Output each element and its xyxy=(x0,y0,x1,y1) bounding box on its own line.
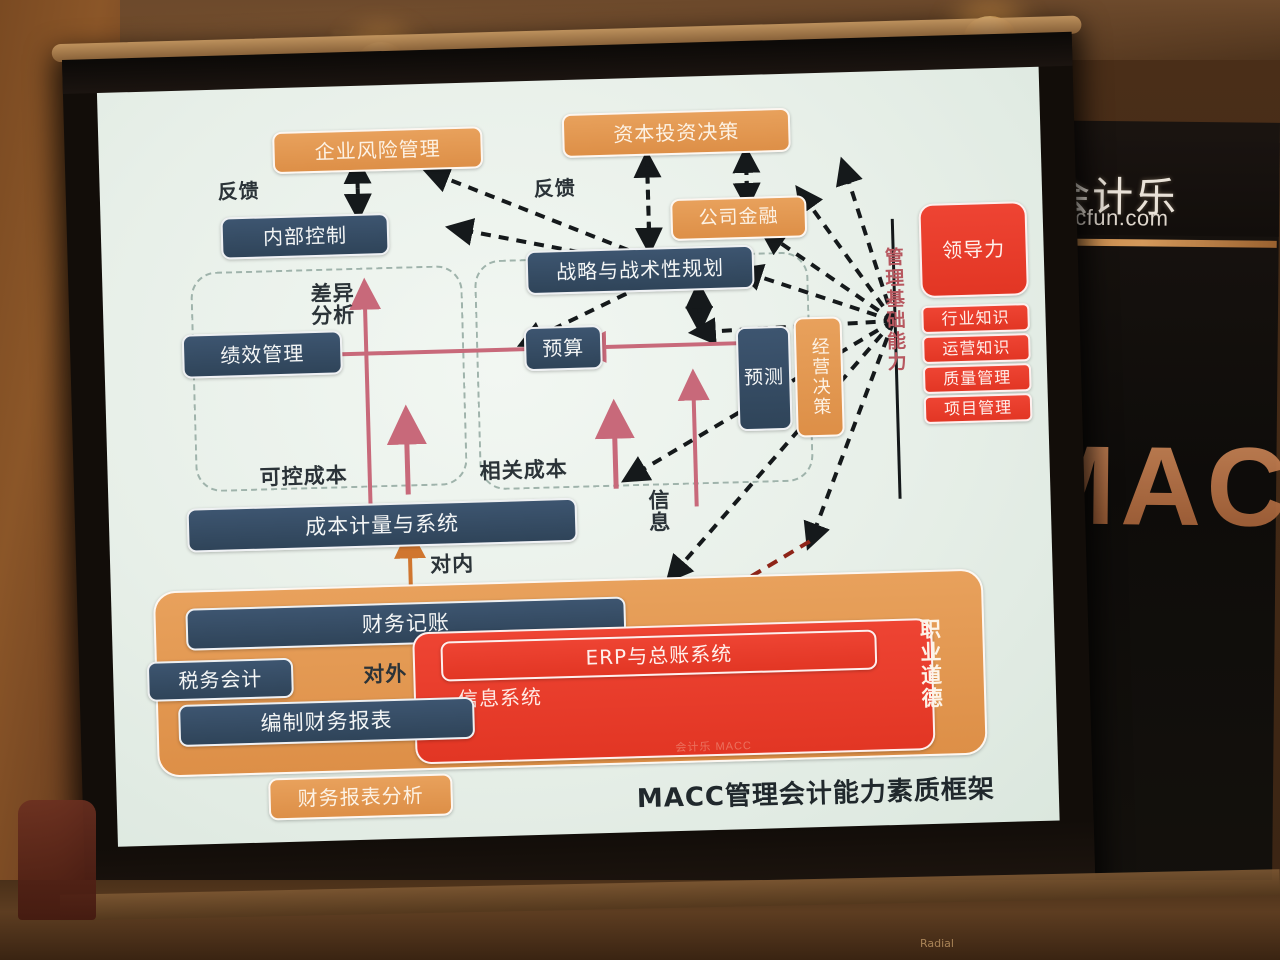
label-feedback-left: 反馈 xyxy=(217,181,260,203)
box-label: 预算 xyxy=(542,336,585,360)
photo-of-projected-slide: 会计乐 accfun.com MACC xyxy=(0,0,1280,960)
box-label: 税务会计 xyxy=(178,667,263,692)
projection-screen: 企业风险管理 资本投资决策 公司金融 内部控制 战略与战术性规划 xyxy=(62,32,1096,940)
box-prepare-statements[interactable]: 编制财务报表 xyxy=(178,697,475,747)
box-label: 行业知识 xyxy=(941,308,1010,328)
box-internal-control[interactable]: 内部控制 xyxy=(220,213,389,260)
box-cost-measurement[interactable]: 成本计量与系统 xyxy=(187,498,578,553)
label-internal: 对内 xyxy=(430,553,475,576)
box-forecast[interactable]: 预测 xyxy=(736,326,793,431)
box-capability-1[interactable]: 行业知识 xyxy=(921,303,1030,334)
box-capability-4[interactable]: 项目管理 xyxy=(924,393,1033,424)
box-corporate-finance[interactable]: 公司金融 xyxy=(670,195,807,241)
label-external: 对外 xyxy=(363,663,408,686)
box-budget[interactable]: 预算 xyxy=(524,325,603,371)
slide-title: MACC管理会计能力素质框架 xyxy=(636,768,995,815)
box-label: 企业风险管理 xyxy=(314,137,441,164)
box-operating-decision[interactable]: 经营决策 xyxy=(793,316,844,437)
box-label: 运营知识 xyxy=(942,338,1011,358)
box-label: 预测 xyxy=(744,367,785,390)
box-label: 财务报表分析 xyxy=(297,784,424,811)
box-label: 成本计量与系统 xyxy=(305,511,460,539)
box-label: 内部控制 xyxy=(263,224,348,249)
box-capability-2[interactable]: 运营知识 xyxy=(922,333,1031,364)
box-statement-analysis[interactable]: 财务报表分析 xyxy=(268,773,453,820)
box-label: 质量管理 xyxy=(943,368,1012,388)
box-label: ERP与总账系统 xyxy=(585,642,732,669)
box-leadership[interactable]: 领导力 xyxy=(918,201,1029,298)
box-label: 绩效管理 xyxy=(220,342,305,367)
equipment-label: Radial xyxy=(920,937,954,950)
box-label: 资本投资决策 xyxy=(613,120,740,147)
box-label: 战略与战术性规划 xyxy=(556,256,725,284)
box-capital-investment[interactable]: 资本投资决策 xyxy=(562,108,791,158)
label-relevant-cost: 相关成本 xyxy=(479,458,568,482)
box-label: 经营决策 xyxy=(808,337,831,418)
box-label: 领导力 xyxy=(942,237,1006,262)
label-variance-analysis: 差异 分析 xyxy=(310,282,355,327)
slide-watermark: 会计乐 MACC xyxy=(675,737,752,755)
label-mgmt-base-capability: 管理基础能力 xyxy=(882,247,905,374)
box-capability-3[interactable]: 质量管理 xyxy=(923,363,1032,394)
slide-canvas: 企业风险管理 资本投资决策 公司金融 内部控制 战略与战术性规划 xyxy=(97,67,1060,847)
box-performance-management[interactable]: 绩效管理 xyxy=(182,330,343,378)
chair xyxy=(18,800,96,920)
box-enterprise-risk[interactable]: 企业风险管理 xyxy=(272,126,483,174)
box-label: 项目管理 xyxy=(944,398,1013,418)
box-label: 公司金融 xyxy=(698,206,779,230)
label-feedback-right: 反馈 xyxy=(534,178,577,200)
box-label: 编制财务报表 xyxy=(260,708,393,736)
label-professional-ethics: 职业道德 xyxy=(918,618,943,711)
label-information: 信 息 xyxy=(648,489,671,534)
box-tax-accounting[interactable]: 税务会计 xyxy=(147,658,294,702)
box-strategy-planning[interactable]: 战略与战术性规划 xyxy=(526,245,755,295)
screen-surface: 企业风险管理 资本投资决策 公司金融 内部控制 战略与战术性规划 xyxy=(97,67,1060,847)
label-controllable-cost: 可控成本 xyxy=(259,464,348,488)
